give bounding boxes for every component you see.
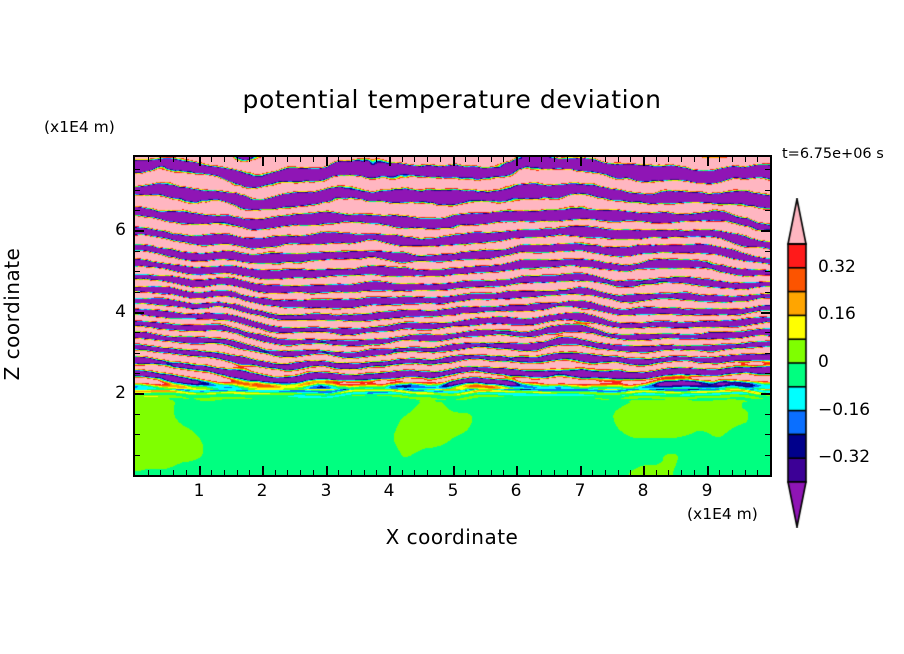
y-major-tick [761,230,770,232]
x-minor-tick [300,157,301,162]
x-minor-tick [402,470,403,475]
x-minor-tick [681,470,682,475]
x-major-tick [326,157,328,166]
x-minor-tick [351,157,352,162]
x-minor-tick [732,157,733,162]
x-minor-tick [567,157,568,162]
x-minor-tick [287,157,288,162]
x-minor-tick [402,157,403,162]
y-minor-tick [135,169,140,170]
x-minor-tick [719,157,720,162]
y-axis-unit-label: (x1E4 m) [44,118,115,136]
x-minor-tick [656,157,657,162]
x-major-tick [516,466,518,475]
x-minor-tick [275,470,276,475]
x-minor-tick [440,470,441,475]
y-minor-tick [135,434,140,435]
x-minor-tick [491,157,492,162]
x-minor-tick [414,157,415,162]
x-minor-tick [681,157,682,162]
x-minor-tick [605,157,606,162]
x-minor-tick [249,470,250,475]
x-minor-tick [503,157,504,162]
x-minor-tick [211,470,212,475]
x-major-tick [389,466,391,475]
x-minor-tick [148,470,149,475]
x-minor-tick [656,470,657,475]
y-minor-tick [135,455,140,456]
x-minor-tick [465,470,466,475]
x-minor-tick [719,470,720,475]
colorbar-gradient [784,198,810,528]
x-axis-title: X coordinate [0,525,904,549]
x-tick-label: 8 [623,481,663,501]
x-major-tick [199,157,201,166]
colorbar-tick-label: −0.16 [818,400,870,420]
x-tick-label: 1 [179,481,219,501]
x-minor-tick [237,470,238,475]
y-minor-tick [765,190,770,191]
x-minor-tick [224,157,225,162]
y-major-tick [135,393,144,395]
x-tick-label: 3 [306,481,346,501]
x-minor-tick [668,470,669,475]
y-tick-label: 6 [86,220,126,240]
y-major-tick [761,393,770,395]
x-minor-tick [224,470,225,475]
x-minor-tick [465,157,466,162]
x-minor-tick [237,157,238,162]
y-minor-tick [765,271,770,272]
y-major-tick [135,230,144,232]
y-minor-tick [135,190,140,191]
x-minor-tick [567,470,568,475]
x-minor-tick [630,157,631,162]
y-major-tick [761,312,770,314]
x-minor-tick [503,470,504,475]
y-minor-tick [765,353,770,354]
x-tick-label: 4 [369,481,409,501]
x-tick-label: 2 [242,481,282,501]
y-minor-tick [135,292,140,293]
x-major-tick [643,466,645,475]
x-minor-tick [313,470,314,475]
x-minor-tick [478,157,479,162]
x-major-tick [643,157,645,166]
x-minor-tick [529,470,530,475]
x-minor-tick [554,157,555,162]
x-minor-tick [605,470,606,475]
x-minor-tick [745,157,746,162]
x-minor-tick [287,470,288,475]
x-minor-tick [541,157,542,162]
x-minor-tick [338,157,339,162]
x-minor-tick [618,157,619,162]
x-minor-tick [173,157,174,162]
x-tick-label: 5 [433,481,473,501]
time-annotation: t=6.75e+06 s [782,146,884,162]
x-major-tick [262,157,264,166]
x-minor-tick [338,470,339,475]
x-minor-tick [148,157,149,162]
y-minor-tick [135,373,140,374]
page-title: potential temperature deviation [0,85,904,114]
x-major-tick [453,466,455,475]
figure-canvas: potential temperature deviation (x1E4 m)… [0,0,904,654]
x-minor-tick [351,470,352,475]
y-axis-title: Z coordinate [0,214,24,414]
x-minor-tick [618,470,619,475]
x-minor-tick [364,157,365,162]
y-major-tick [135,312,144,314]
x-major-tick [580,157,582,166]
x-minor-tick [427,157,428,162]
y-minor-tick [765,332,770,333]
y-minor-tick [135,251,140,252]
x-minor-tick [173,470,174,475]
x-minor-tick [300,470,301,475]
y-minor-tick [135,332,140,333]
colorbar-tick-label: 0 [818,352,829,372]
y-minor-tick [765,373,770,374]
x-minor-tick [440,157,441,162]
y-minor-tick [135,353,140,354]
x-major-tick [262,466,264,475]
y-minor-tick [765,251,770,252]
x-minor-tick [745,470,746,475]
x-minor-tick [186,157,187,162]
x-major-tick [389,157,391,166]
y-minor-tick [135,210,140,211]
x-minor-tick [186,470,187,475]
x-minor-tick [592,157,593,162]
x-tick-label: 9 [687,481,727,501]
x-minor-tick [478,470,479,475]
x-major-tick [580,466,582,475]
x-minor-tick [364,470,365,475]
y-minor-tick [135,414,140,415]
x-minor-tick [732,470,733,475]
x-minor-tick [694,157,695,162]
y-minor-tick [765,455,770,456]
x-minor-tick [668,157,669,162]
x-minor-tick [757,470,758,475]
y-minor-tick [765,414,770,415]
x-minor-tick [275,157,276,162]
x-major-tick [326,466,328,475]
x-major-tick [707,157,709,166]
x-minor-tick [592,470,593,475]
x-minor-tick [376,470,377,475]
y-minor-tick [765,210,770,211]
x-tick-label: 6 [496,481,536,501]
colorbar-tick-label: 0.16 [818,304,856,324]
y-minor-tick [135,271,140,272]
x-minor-tick [630,470,631,475]
x-major-tick [453,157,455,166]
y-tick-label: 2 [86,383,126,403]
x-axis-unit-label: (x1E4 m) [687,505,758,523]
x-minor-tick [554,470,555,475]
x-minor-tick [414,470,415,475]
colorbar [784,198,810,528]
x-minor-tick [160,470,161,475]
contour-field [135,157,770,475]
y-tick-label: 4 [86,302,126,322]
x-minor-tick [491,470,492,475]
x-minor-tick [211,157,212,162]
x-minor-tick [694,470,695,475]
colorbar-tick-label: −0.32 [818,447,870,467]
x-major-tick [516,157,518,166]
y-minor-tick [765,292,770,293]
x-minor-tick [541,470,542,475]
x-tick-label: 7 [560,481,600,501]
x-minor-tick [313,157,314,162]
y-minor-tick [765,434,770,435]
x-minor-tick [249,157,250,162]
x-minor-tick [427,470,428,475]
plot-area [133,155,772,477]
colorbar-tick-label: 0.32 [818,257,856,277]
x-minor-tick [160,157,161,162]
x-major-tick [199,466,201,475]
x-minor-tick [376,157,377,162]
x-minor-tick [757,157,758,162]
x-major-tick [707,466,709,475]
x-minor-tick [529,157,530,162]
y-minor-tick [765,169,770,170]
